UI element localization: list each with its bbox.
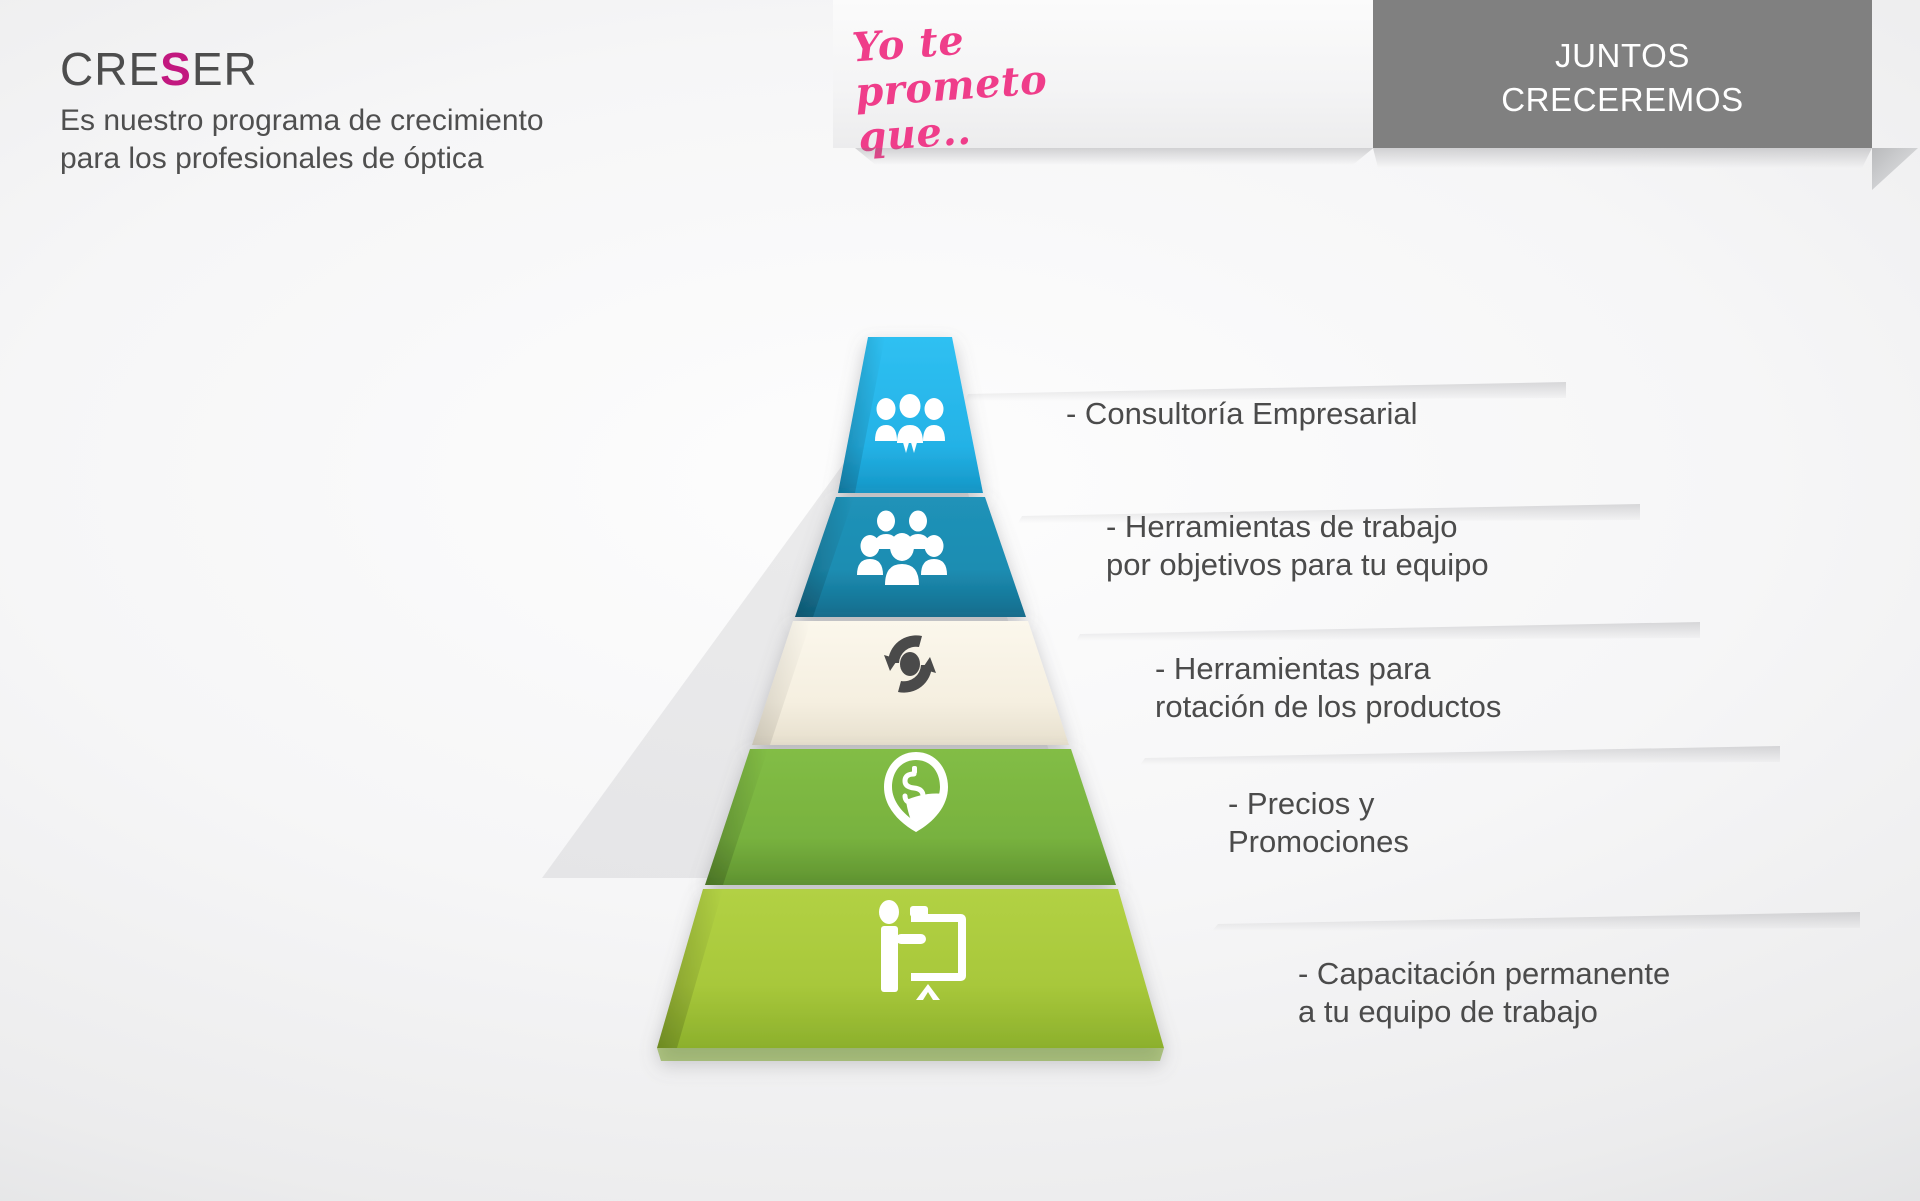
banner-corner-fold-icon <box>1872 148 1918 190</box>
promise-panel: Yo te prometo que.. <box>833 0 1373 148</box>
pyramid-level-4 <box>705 749 1116 885</box>
rotation-arrows-icon <box>884 635 936 692</box>
banner-title: JUNTOS CRECEREMOS <box>1373 34 1872 122</box>
pyramid-label-4: - Precios y Promociones <box>1228 785 1409 861</box>
logo-text-post: ER <box>192 43 258 95</box>
pyramid-label-3: - Herramientas para rotación de los prod… <box>1155 650 1501 726</box>
header: CRESER Es nuestro programa de crecimient… <box>0 0 1920 215</box>
pyramid-label-5: - Capacitación permanente a tu equipo de… <box>1298 955 1670 1031</box>
pyramid-label-2: - Herramientas de trabajo por objetivos … <box>1106 508 1489 584</box>
pyramid-level-1 <box>838 337 983 493</box>
brand-block: CRESER Es nuestro programa de crecimient… <box>60 46 544 179</box>
price-tag-dollar-icon <box>884 752 948 832</box>
pyramid-shadow <box>542 353 1089 878</box>
logo-creser: CRESER <box>60 46 544 92</box>
logo-text-pre: CRE <box>60 43 160 95</box>
logo-text-accent: S <box>160 43 192 95</box>
banner-shadow <box>1373 148 1872 168</box>
tagline: Es nuestro programa de crecimiento para … <box>60 102 544 179</box>
presenter-board-icon <box>879 900 966 1000</box>
three-people-icon <box>875 394 945 453</box>
handwritten-promise-note: Yo te prometo que.. <box>851 6 1160 161</box>
pyramid-level-2 <box>795 497 1026 617</box>
juntos-banner: JUNTOS CRECEREMOS <box>1373 0 1918 190</box>
pyramid-label-1: - Consultoría Empresarial <box>1066 395 1417 433</box>
pyramid-level-5 <box>657 889 1164 1061</box>
people-group-icon <box>857 511 947 586</box>
pyramid-level-3 <box>752 621 1069 745</box>
